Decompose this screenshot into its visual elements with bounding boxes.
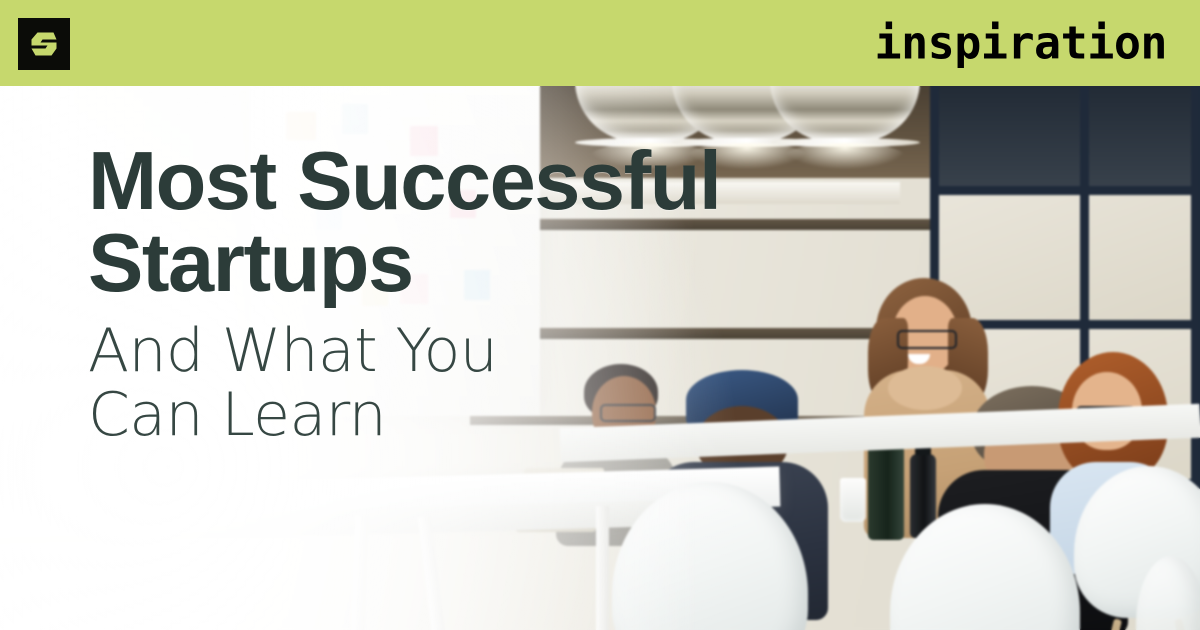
page-title: Most Successful Startups xyxy=(88,140,720,304)
title-line-1: Most Successful xyxy=(88,134,720,227)
subtitle-line-2: Can Learn xyxy=(88,384,720,448)
page-subtitle: And What You Can Learn xyxy=(88,320,720,447)
subtitle-line-1: And What You xyxy=(88,316,497,386)
hero-copy-block: Most Successful Startups And What You Ca… xyxy=(88,140,720,448)
title-line-2: Startups xyxy=(88,222,720,304)
category-label: inspiration xyxy=(874,21,1167,66)
social-share-banner: Most Successful Startups And What You Ca… xyxy=(0,0,1200,630)
top-bar: inspiration xyxy=(0,0,1200,86)
s-monogram-logo[interactable] xyxy=(18,18,70,70)
